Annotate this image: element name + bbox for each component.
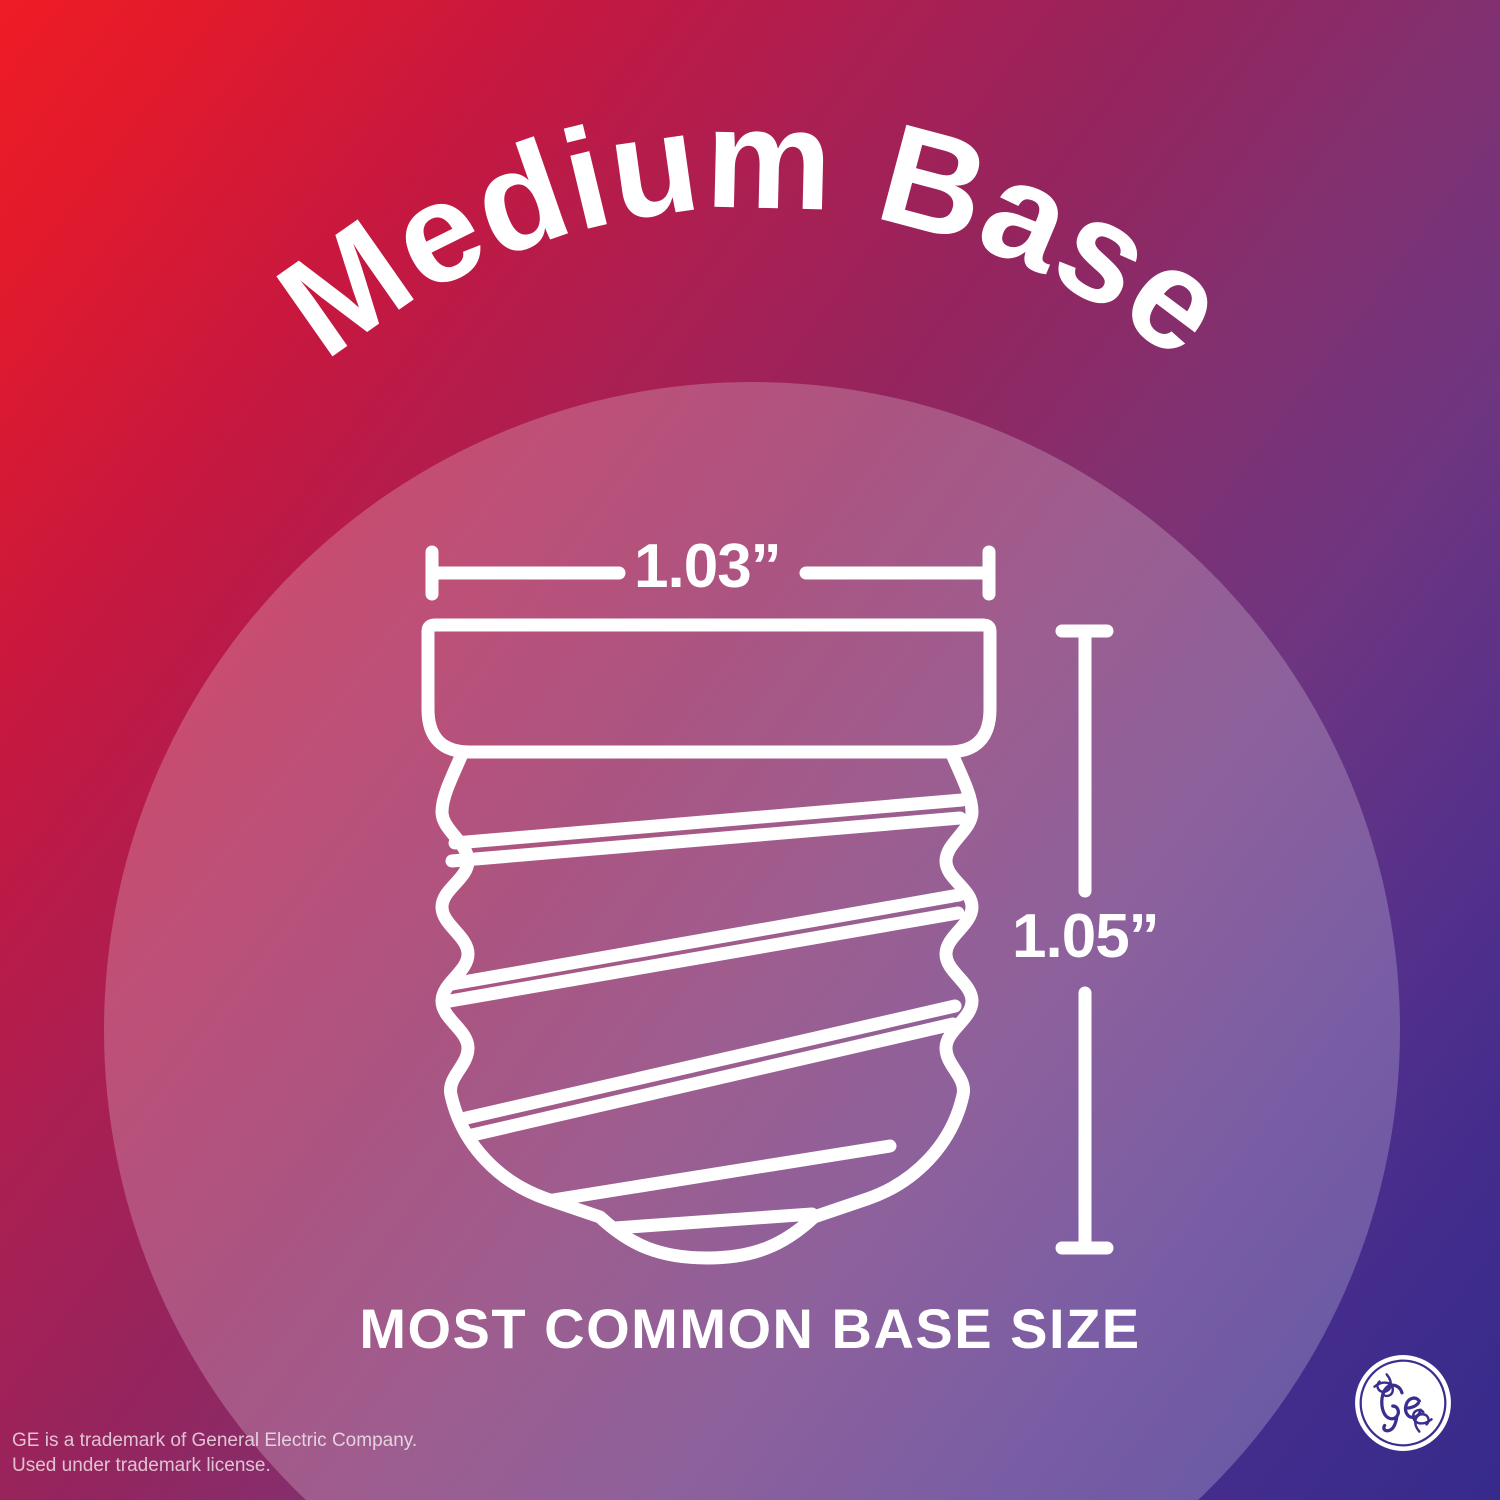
height-dimension-label: 1.05” [1012,901,1159,972]
legal-line-1: GE is a trademark of General Electric Co… [12,1428,417,1453]
ge-monogram-logo: GE [1352,1352,1454,1454]
product-infographic: Medium Base [0,0,1500,1500]
legal-notice: GE is a trademark of General Electric Co… [12,1428,417,1478]
width-dimension-label: 1.03” [634,531,781,602]
legal-line-2: Used under trademark license. [12,1453,417,1478]
bulb-base-outline [428,625,990,1258]
thread-lines [450,800,962,1228]
caption-text: MOST COMMON BASE SIZE [0,1296,1500,1361]
illustration-container [0,0,1500,1500]
